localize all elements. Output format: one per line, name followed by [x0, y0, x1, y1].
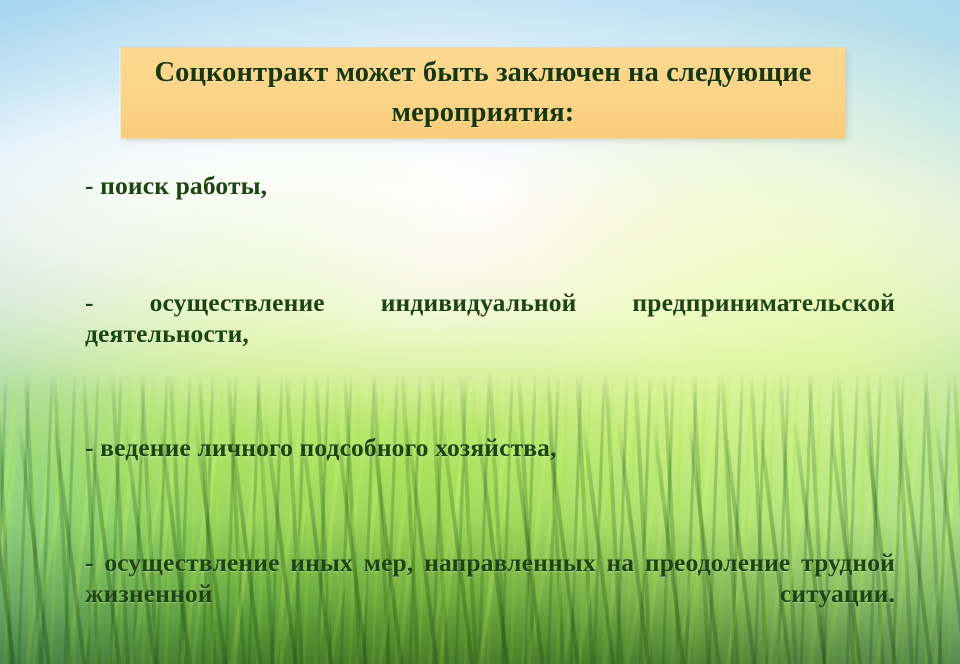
list-item: - осуществление индивидуальной предприни…	[85, 287, 895, 380]
list-item: - ведение личного подсобного хозяйства,	[85, 432, 895, 494]
page-title: Соцконтракт может быть заключен на следу…	[121, 53, 845, 133]
presentation-slide: Соцконтракт может быть заключен на следу…	[0, 0, 960, 664]
title-banner: Соцконтракт может быть заключен на следу…	[121, 48, 845, 138]
list-item: - осуществление иных мер, направленных н…	[85, 547, 895, 640]
list-item: - поиск работы,	[85, 170, 895, 232]
bullet-list: - поиск работы, - осуществление индивиду…	[85, 170, 895, 640]
